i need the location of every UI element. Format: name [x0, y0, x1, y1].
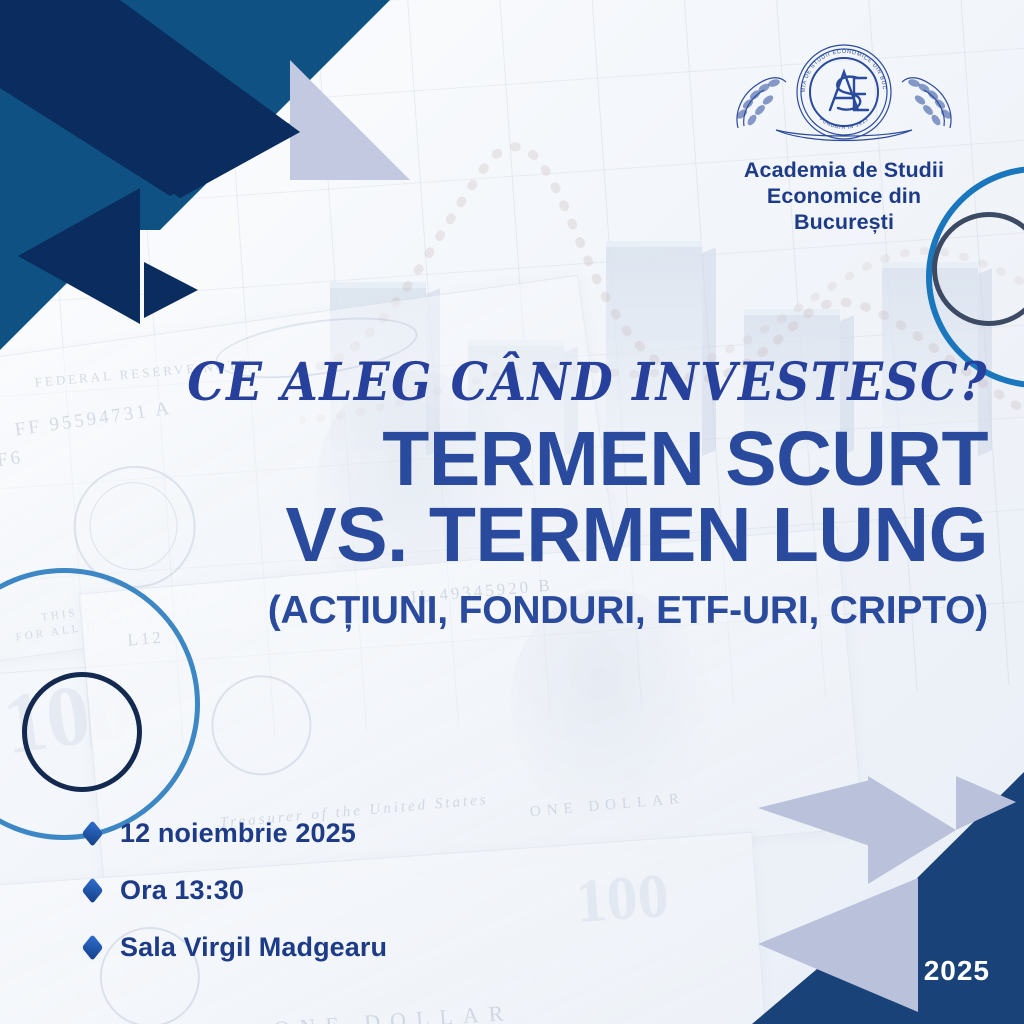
- bottom-right-triangle-lavender-b: [752, 780, 872, 860]
- headline-kicker: CE ALEG CÂND INVESTESC?: [0, 356, 988, 409]
- top-left-triangle-small: [142, 258, 202, 320]
- event-detail-time: Ora 13:30: [84, 875, 387, 906]
- diamond-bullet-icon: [82, 820, 104, 847]
- year-badge: 2025: [924, 955, 990, 987]
- ase-crest-icon: ACADEMIA DE STUDII ECONOMICE DIN BUCURES…: [718, 42, 970, 150]
- circle-outline-dark-left: [22, 672, 142, 792]
- headline-subtitle: (ACȚIUNI, FONDURI, ETF-URI, CRIPTO): [0, 589, 988, 633]
- headline-title-line1: TERMEN SCURT: [0, 421, 988, 497]
- event-detail-text: Sala Virgil Madgearu: [120, 932, 387, 963]
- top-left-triangle-large: [18, 188, 158, 328]
- event-details-list: 12 noiembrie 2025 Ora 13:30 Sala Virgil …: [84, 818, 387, 989]
- event-detail-text: 12 noiembrie 2025: [120, 818, 356, 849]
- organization-name-line1: Academia de Studii: [718, 157, 970, 183]
- organization-name-line2: Economice din București: [718, 183, 970, 235]
- event-detail-location: Sala Virgil Madgearu: [84, 932, 387, 963]
- diamond-bullet-icon: [82, 934, 104, 961]
- ase-logo-block: ACADEMIA DE STUDII ECONOMICE DIN BUCURES…: [718, 42, 970, 236]
- organization-name: Academia de Studii Economice din Bucureș…: [718, 157, 970, 236]
- headline-title-line2: VS. TERMEN LUNG: [0, 497, 988, 573]
- diamond-bullet-icon: [82, 877, 104, 904]
- bottom-right-triangle-lavender-large: [758, 878, 928, 1018]
- svg-text:ACADEMIA DE STUDII ECONOMICE D: ACADEMIA DE STUDII ECONOMICE DIN BUCURES…: [718, 42, 887, 92]
- event-detail-text: Ora 13:30: [120, 875, 244, 906]
- poster-canvas: FEDERAL RESERVE NOTE FF 95594731 A F6 TH…: [0, 0, 1024, 1024]
- svg-text:FONDATA IN 1913: FONDATA IN 1913: [818, 117, 870, 132]
- headline-block: CE ALEG CÂND INVESTESC? TERMEN SCURT VS.…: [0, 362, 988, 633]
- event-detail-date: 12 noiembrie 2025: [84, 818, 387, 849]
